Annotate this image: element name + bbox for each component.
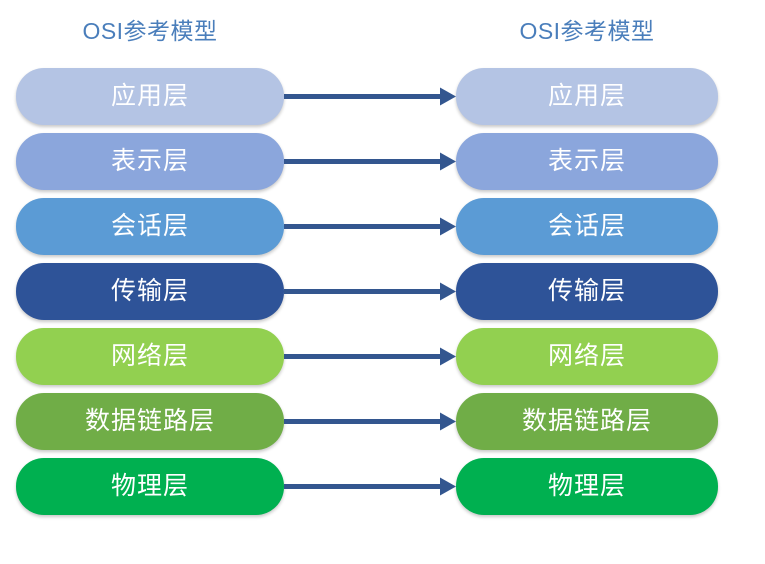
layer-label: 物理层 bbox=[111, 474, 189, 499]
layer-box-right-3[interactable]: 会话层 bbox=[456, 198, 718, 255]
arrow-head-icon bbox=[440, 478, 456, 496]
right-column-heading: OSI参考模型 bbox=[456, 20, 718, 43]
layer-box-left-7[interactable]: 物理层 bbox=[16, 458, 284, 515]
arrow-head-icon bbox=[440, 88, 456, 106]
arrow-head-icon bbox=[440, 283, 456, 301]
left-column-heading: OSI参考模型 bbox=[16, 20, 284, 43]
connector-arrow-7 bbox=[284, 478, 456, 496]
layer-box-left-2[interactable]: 表示层 bbox=[16, 133, 284, 190]
layer-label: 会话层 bbox=[548, 214, 626, 239]
arrow-shaft bbox=[284, 289, 440, 294]
layer-box-right-4[interactable]: 传输层 bbox=[456, 263, 718, 320]
layer-label: 传输层 bbox=[548, 279, 626, 304]
arrow-shaft bbox=[284, 94, 440, 99]
layer-label: 物理层 bbox=[548, 474, 626, 499]
arrow-shaft bbox=[284, 419, 440, 424]
layer-box-right-5[interactable]: 网络层 bbox=[456, 328, 718, 385]
layer-label: 应用层 bbox=[548, 84, 626, 109]
connector-arrow-2 bbox=[284, 153, 456, 171]
layer-box-right-1[interactable]: 应用层 bbox=[456, 68, 718, 125]
layer-box-left-1[interactable]: 应用层 bbox=[16, 68, 284, 125]
layer-label: 表示层 bbox=[111, 149, 189, 174]
layer-label: 表示层 bbox=[548, 149, 626, 174]
arrow-head-icon bbox=[440, 348, 456, 366]
layer-label: 会话层 bbox=[111, 214, 189, 239]
layer-label: 数据链路层 bbox=[85, 409, 215, 434]
layer-box-left-3[interactable]: 会话层 bbox=[16, 198, 284, 255]
connector-arrow-3 bbox=[284, 218, 456, 236]
arrow-shaft bbox=[284, 224, 440, 229]
layer-box-right-6[interactable]: 数据链路层 bbox=[456, 393, 718, 450]
arrow-shaft bbox=[284, 159, 440, 164]
connector-arrow-6 bbox=[284, 413, 456, 431]
layer-label: 应用层 bbox=[111, 84, 189, 109]
layer-label: 网络层 bbox=[548, 344, 626, 369]
layer-box-left-5[interactable]: 网络层 bbox=[16, 328, 284, 385]
layer-box-left-4[interactable]: 传输层 bbox=[16, 263, 284, 320]
layer-label: 传输层 bbox=[111, 279, 189, 304]
connector-arrow-1 bbox=[284, 88, 456, 106]
arrow-shaft bbox=[284, 484, 440, 489]
connector-arrow-4 bbox=[284, 283, 456, 301]
arrow-head-icon bbox=[440, 153, 456, 171]
right-layer-stack: 应用层表示层会话层传输层网络层数据链路层物理层 bbox=[456, 68, 718, 515]
arrow-head-icon bbox=[440, 413, 456, 431]
layer-box-left-6[interactable]: 数据链路层 bbox=[16, 393, 284, 450]
osi-model-diagram: OSI参考模型 OSI参考模型 应用层表示层会话层传输层网络层数据链路层物理层 … bbox=[0, 0, 765, 564]
layer-label: 数据链路层 bbox=[522, 409, 652, 434]
arrow-head-icon bbox=[440, 218, 456, 236]
layer-box-right-7[interactable]: 物理层 bbox=[456, 458, 718, 515]
connector-arrow-5 bbox=[284, 348, 456, 366]
left-layer-stack: 应用层表示层会话层传输层网络层数据链路层物理层 bbox=[16, 68, 284, 515]
arrow-shaft bbox=[284, 354, 440, 359]
layer-box-right-2[interactable]: 表示层 bbox=[456, 133, 718, 190]
layer-label: 网络层 bbox=[111, 344, 189, 369]
